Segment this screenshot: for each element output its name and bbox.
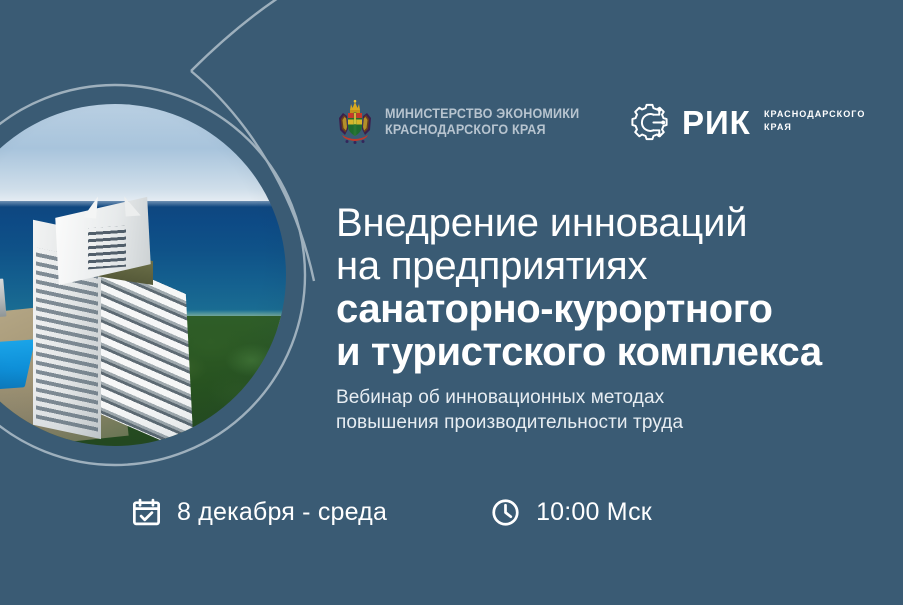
title-line-4: и туристского комплекса	[336, 331, 822, 374]
clock-icon	[490, 497, 521, 528]
webinar-announcement-banner: МИНИСТЕРСТВО ЭКОНОМИКИ КРАСНОДАРСКОГО КР…	[0, 0, 903, 605]
title-line-3: санаторно-курортного	[336, 288, 822, 331]
event-meta-row: 8 декабря - среда 10:00 Мск	[131, 497, 652, 528]
ministry-logo-text: МИНИСТЕРСТВО ЭКОНОМИКИ КРАСНОДАРСКОГО КР…	[385, 106, 579, 139]
hero-photo	[0, 104, 286, 446]
ministry-logo: МИНИСТЕРСТВО ЭКОНОМИКИ КРАСНОДАРСКОГО КР…	[336, 99, 594, 145]
hero-photo-image	[0, 104, 286, 446]
rik-subtext-line2: КРАЯ	[764, 122, 865, 135]
event-time-text: 10:00 Мск	[536, 498, 652, 527]
gear-circuit-icon	[628, 101, 671, 144]
logo-row: МИНИСТЕРСТВО ЭКОНОМИКИ КРАСНОДАРСКОГО КР…	[336, 99, 871, 145]
event-date-text: 8 декабря - среда	[177, 498, 387, 527]
accent-arc-upper	[191, 0, 318, 71]
event-date: 8 декабря - среда	[131, 497, 387, 528]
subtitle-line-2: повышения производительности труда	[336, 410, 683, 435]
page-title: Внедрение инноваций на предприятиях сана…	[336, 202, 822, 374]
title-line-1: Внедрение инноваций	[336, 202, 822, 245]
ministry-logo-line1: МИНИСТЕРСТВО ЭКОНОМИКИ	[385, 106, 579, 122]
calendar-check-icon	[131, 497, 162, 528]
rik-subtext-line1: КРАСНОДАРСКОГО	[764, 109, 865, 122]
page-subtitle: Вебинар об инновационных методах повышен…	[336, 385, 683, 436]
subtitle-line-1: Вебинар об инновационных методах	[336, 385, 683, 410]
rik-subtext: КРАСНОДАРСКОГО КРАЯ	[764, 109, 865, 135]
rik-logo: РИК КРАСНОДАРСКОГО КРАЯ	[628, 101, 871, 144]
title-line-2: на предприятиях	[336, 245, 822, 288]
rik-logo-text: РИК КРАСНОДАРСКОГО КРАЯ	[682, 106, 871, 139]
ministry-logo-line2: КРАСНОДАРСКОГО КРАЯ	[385, 122, 579, 138]
krasnodar-krai-coat-of-arms-icon	[336, 99, 374, 145]
event-time: 10:00 Мск	[490, 497, 652, 528]
photo-vignette	[0, 104, 286, 446]
rik-wordmark: РИК	[682, 106, 751, 139]
